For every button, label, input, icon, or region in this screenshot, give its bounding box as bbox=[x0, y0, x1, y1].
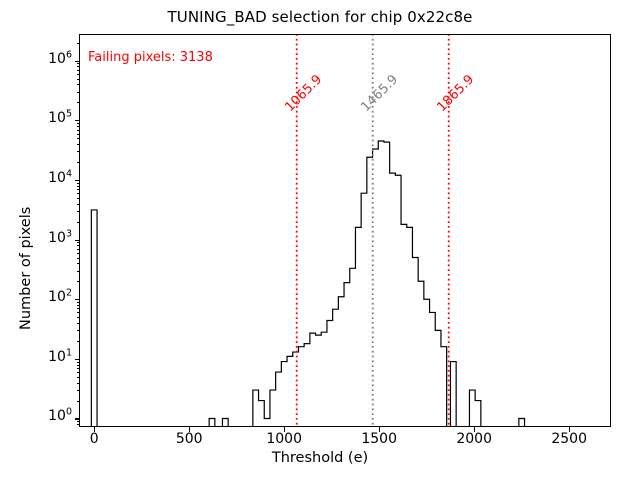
x-tick-label: 2000 bbox=[456, 431, 492, 447]
x-tick-label: 500 bbox=[176, 431, 203, 447]
failing-pixels-annotation: Failing pixels: 3138 bbox=[88, 50, 213, 65]
x-tick-label: 0 bbox=[90, 431, 99, 447]
matplotlib-figure: TUNING_BAD selection for chip 0x22c8e Nu… bbox=[0, 0, 640, 480]
x-tick-label: 1500 bbox=[361, 431, 397, 447]
axes-frame bbox=[79, 34, 611, 427]
x-tick-label: 1000 bbox=[266, 431, 302, 447]
x-axis-label: Threshold (e) bbox=[0, 450, 640, 466]
y-tick-label: 100 bbox=[0, 409, 72, 423]
y-tick-label: 102 bbox=[0, 290, 72, 304]
x-tick-mark bbox=[189, 427, 190, 432]
y-tick-label: 101 bbox=[0, 350, 72, 364]
x-tick-mark bbox=[379, 427, 380, 432]
y-tick-label: 105 bbox=[0, 111, 72, 125]
x-tick-mark bbox=[284, 427, 285, 432]
page-title: TUNING_BAD selection for chip 0x22c8e bbox=[0, 8, 640, 26]
x-tick-label: 2500 bbox=[551, 431, 587, 447]
y-tick-label: 104 bbox=[0, 171, 72, 185]
x-tick-mark bbox=[569, 427, 570, 432]
y-axis-label: Number of pixels bbox=[18, 207, 34, 330]
y-tick-label: 106 bbox=[0, 52, 72, 66]
x-tick-mark bbox=[94, 427, 95, 432]
y-tick-label: 103 bbox=[0, 231, 72, 245]
x-tick-mark bbox=[474, 427, 475, 432]
